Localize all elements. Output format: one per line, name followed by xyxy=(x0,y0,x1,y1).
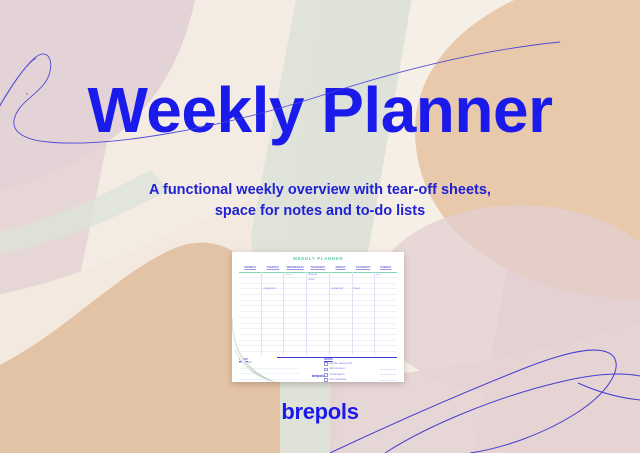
planner-entry: afspraak xyxy=(308,274,317,276)
checkbox-icon xyxy=(324,378,328,382)
planner-todo-label: kaart opzoeken xyxy=(329,368,345,370)
planner-day-thursday: THURSDAY xyxy=(307,265,330,272)
planner-entry: vergadering xyxy=(331,288,343,290)
planner-notes-entry: telefoon abb. xyxy=(239,362,299,364)
planner-notes-heading: NOTES xyxy=(239,358,299,361)
brand-logo: brepols xyxy=(0,399,640,425)
page-title: Weekly Planner xyxy=(0,78,640,142)
planner-card: WEEKLY PLANNER MONDAY TUESDAY WEDNESDAY … xyxy=(232,252,404,382)
planner-day-saturday: SATURDAY xyxy=(352,265,375,272)
planner-entry: lunch xyxy=(286,274,292,276)
planner-title: WEEKLY PLANNER xyxy=(232,256,404,261)
poster-canvas: Weekly Planner A functional weekly overv… xyxy=(0,0,640,453)
planner-day-tuesday: TUESDAY xyxy=(262,265,285,272)
background-shapes xyxy=(0,0,640,453)
planner-todo-label: foto's verjaardag xyxy=(329,379,346,381)
planner-todo-ruled xyxy=(380,364,396,382)
checkbox-icon xyxy=(324,362,328,366)
planner-brand-logo: brepols xyxy=(232,374,404,378)
page-subtitle: A functional weekly overview with tear-o… xyxy=(0,180,640,222)
planner-notes-ruled xyxy=(239,364,299,382)
planner-sheet-image: WEEKLY PLANNER MONDAY TUESDAY WEDNESDAY … xyxy=(232,252,404,382)
planner-day-monday: MONDAY xyxy=(239,265,262,272)
planner-day-sunday: SUNDAY xyxy=(374,265,397,272)
planner-entry: lunch xyxy=(376,274,382,276)
planner-day-friday: FRIDAY xyxy=(329,265,352,272)
subtitle-line-2: space for notes and to-do lists xyxy=(0,201,640,222)
planner-todo-label: agenda+ jaaroverzicht xyxy=(329,363,352,365)
planner-entry: dokter xyxy=(308,279,314,281)
checkbox-icon xyxy=(324,368,328,372)
planner-notes-section: NOTES telefoon abb. xyxy=(239,358,299,364)
planner-todo-heading: NOTES xyxy=(324,358,396,361)
planner-todo-section: NOTES agenda+ jaaroverzichtkaart opzoeke… xyxy=(324,358,396,382)
planner-entry: fitness xyxy=(353,288,360,290)
planner-entry: vergadering xyxy=(263,288,275,290)
subtitle-line-1: A functional weekly overview with tear-o… xyxy=(0,180,640,201)
planner-entries-layer: vergaderinglunchafspraakdoktervergaderin… xyxy=(239,272,397,355)
planner-day-wednesday: WEDNESDAY xyxy=(284,265,307,272)
